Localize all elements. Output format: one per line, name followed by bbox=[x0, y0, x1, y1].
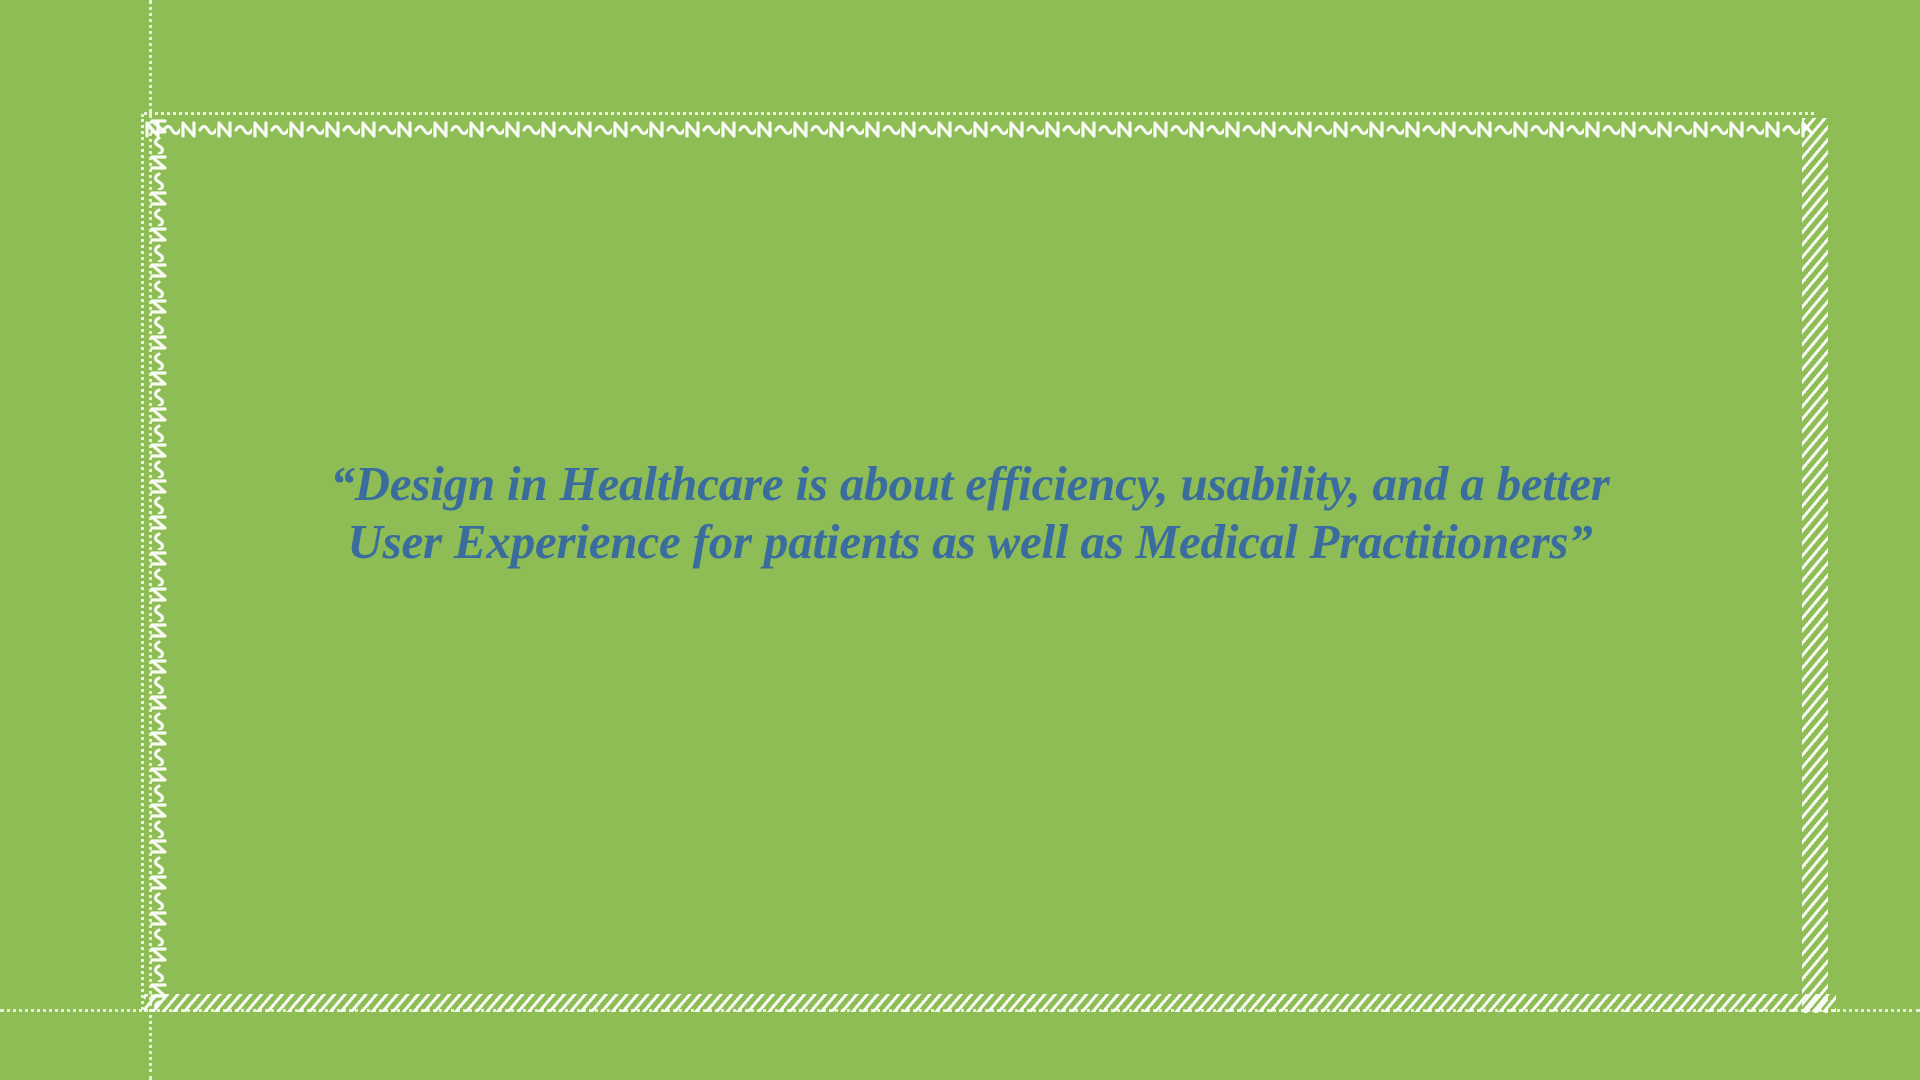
frame-bottom-hatch-border bbox=[144, 994, 1836, 1012]
quote-block: “Design in Healthcare is about efficienc… bbox=[160, 455, 1780, 571]
slide-canvas: “Design in Healthcare is about efficienc… bbox=[0, 0, 1920, 1080]
frame-top-dotted-rule bbox=[144, 112, 1814, 115]
frame-top-squiggle-border bbox=[144, 118, 1812, 140]
frame-left-dotted-rule bbox=[141, 114, 144, 1010]
frame-right-hatch-border bbox=[1802, 118, 1828, 1013]
squiggle-row-icon bbox=[144, 118, 1812, 140]
quote-text: “Design in Healthcare is about efficienc… bbox=[160, 455, 1780, 571]
